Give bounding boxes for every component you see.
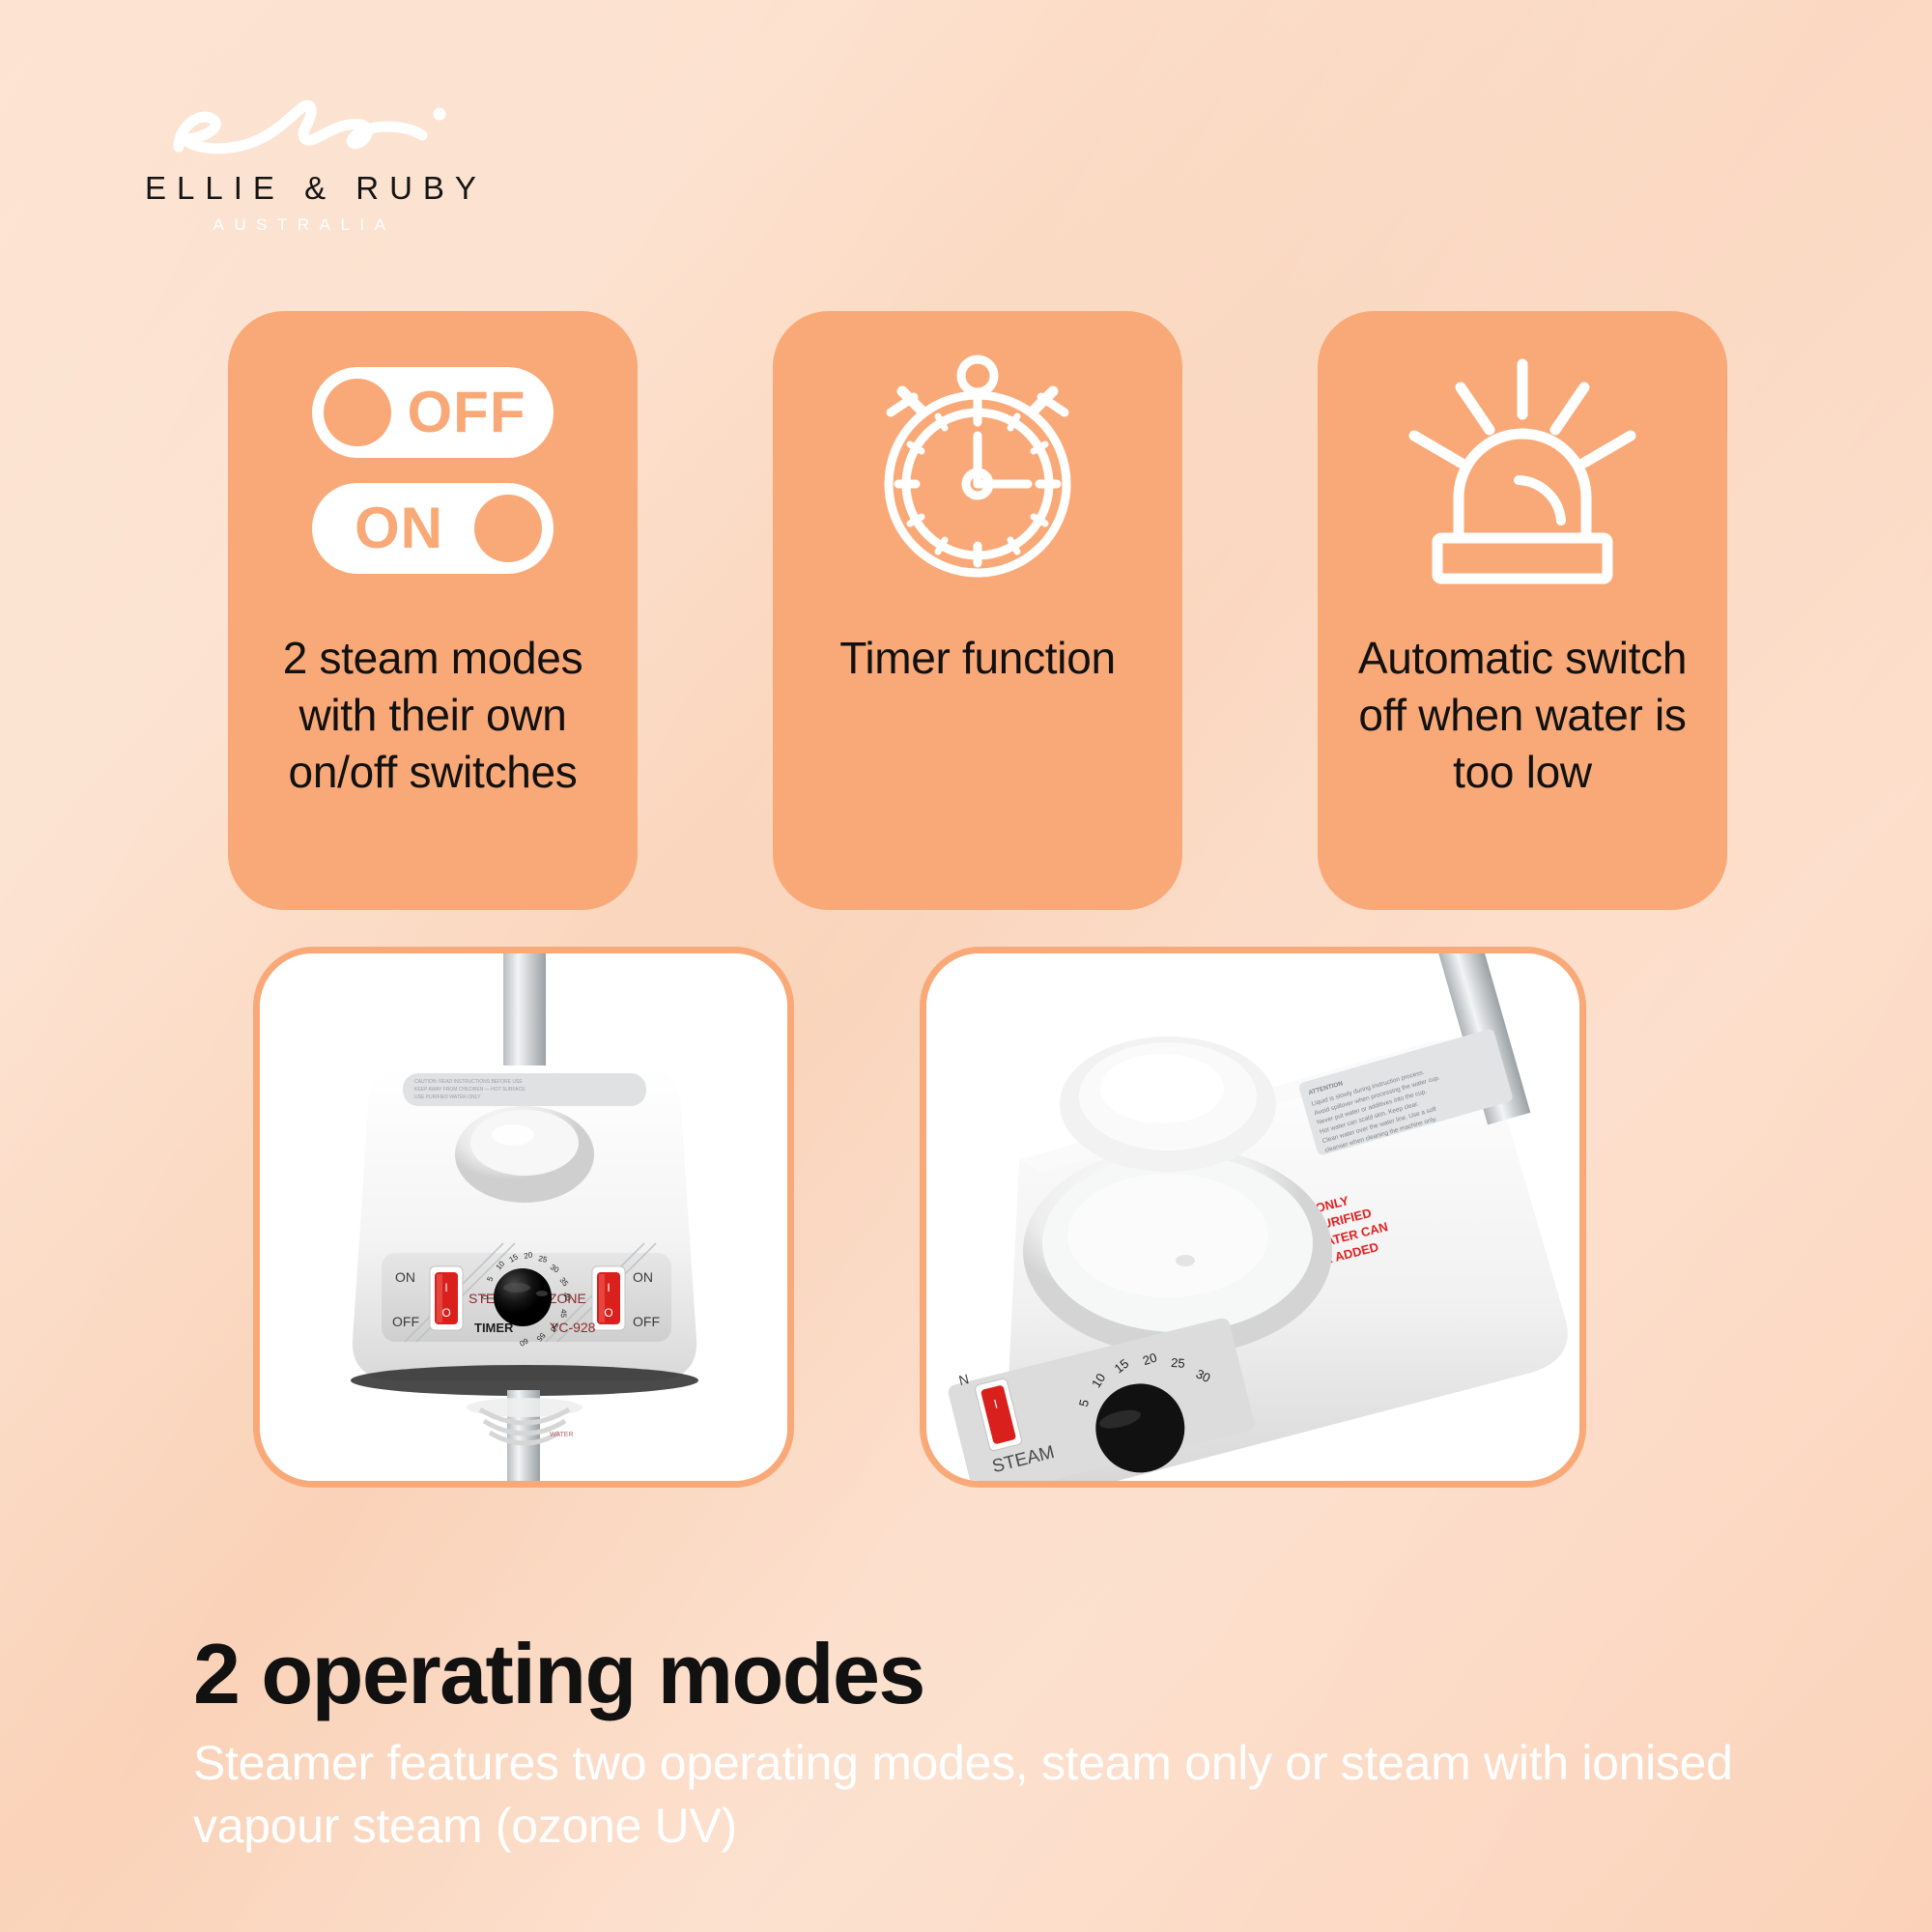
toggle-knob-icon [474, 495, 542, 562]
product-photos: CAUTION: READ INSTRUCTIONS BEFORE USE KE… [253, 947, 1702, 1488]
svg-text:CAUTION: READ INSTRUCTIONS BEF: CAUTION: READ INSTRUCTIONS BEFORE USE [414, 1079, 523, 1085]
logo-country: AUSTRALIA [145, 215, 464, 235]
svg-text:OFF: OFF [392, 1314, 419, 1329]
toggle-knob-icon [324, 379, 391, 446]
infographic-page: ELLIE & RUBY AUSTRALIA OFF ON 2 steam mo… [0, 0, 1932, 1932]
feature-card-caption: 2 steam modes with their own on/off swit… [228, 630, 638, 801]
svg-text:OFF: OFF [633, 1314, 660, 1329]
toggle-on-label: ON [324, 499, 474, 557]
svg-text:ON: ON [633, 1269, 653, 1285]
product-photo-water-cup: ATTENTION Liquid is slowly during instru… [920, 947, 1586, 1488]
svg-text:TIMER: TIMER [474, 1321, 514, 1335]
feature-cards: OFF ON 2 steam modes with their own on/o… [228, 311, 1727, 910]
footer-subheading: Steamer features two operating modes, st… [193, 1732, 1835, 1858]
toggle-switches-icon: OFF ON [228, 311, 638, 630]
feature-card-caption: Automatic switch off when water is too l… [1318, 630, 1727, 801]
feature-card-steam-modes: OFF ON 2 steam modes with their own on/o… [228, 311, 638, 910]
svg-text:I: I [607, 1281, 610, 1294]
brand-logo: ELLIE & RUBY AUSTRALIA [145, 93, 464, 235]
product-photo-control-panel: CAUTION: READ INSTRUCTIONS BEFORE USE KE… [253, 947, 794, 1488]
toggle-on: ON [312, 483, 554, 574]
feature-card-caption: Timer function [822, 630, 1133, 687]
svg-text:WATER: WATER [550, 1432, 574, 1438]
feature-card-timer: Timer function [773, 311, 1182, 910]
toggle-off: OFF [312, 367, 554, 458]
footer-heading: 2 operating modes [193, 1629, 1835, 1719]
stopwatch-timer-icon [773, 311, 1182, 630]
svg-text:USE PURIFIED WATER ONLY: USE PURIFIED WATER ONLY [414, 1094, 481, 1100]
logo-brand-name: ELLIE & RUBY [145, 170, 464, 207]
alarm-beacon-icon [1318, 311, 1727, 630]
footer-text-block: 2 operating modes Steamer features two o… [193, 1629, 1835, 1858]
feature-card-auto-shutoff: Automatic switch off when water is too l… [1318, 311, 1727, 910]
logo-script-mark-icon [145, 93, 464, 166]
svg-text:O: O [604, 1306, 612, 1320]
svg-text:I: I [444, 1281, 447, 1294]
svg-text:25: 25 [1171, 1355, 1185, 1371]
svg-text:45: 45 [559, 1309, 568, 1319]
toggle-off-label: OFF [391, 384, 542, 441]
svg-text:O: O [441, 1306, 450, 1320]
svg-text:ON: ON [395, 1269, 415, 1285]
svg-text:KEEP AWAY FROM CHILDREN — HOT: KEEP AWAY FROM CHILDREN — HOT SURFACE [414, 1087, 526, 1093]
